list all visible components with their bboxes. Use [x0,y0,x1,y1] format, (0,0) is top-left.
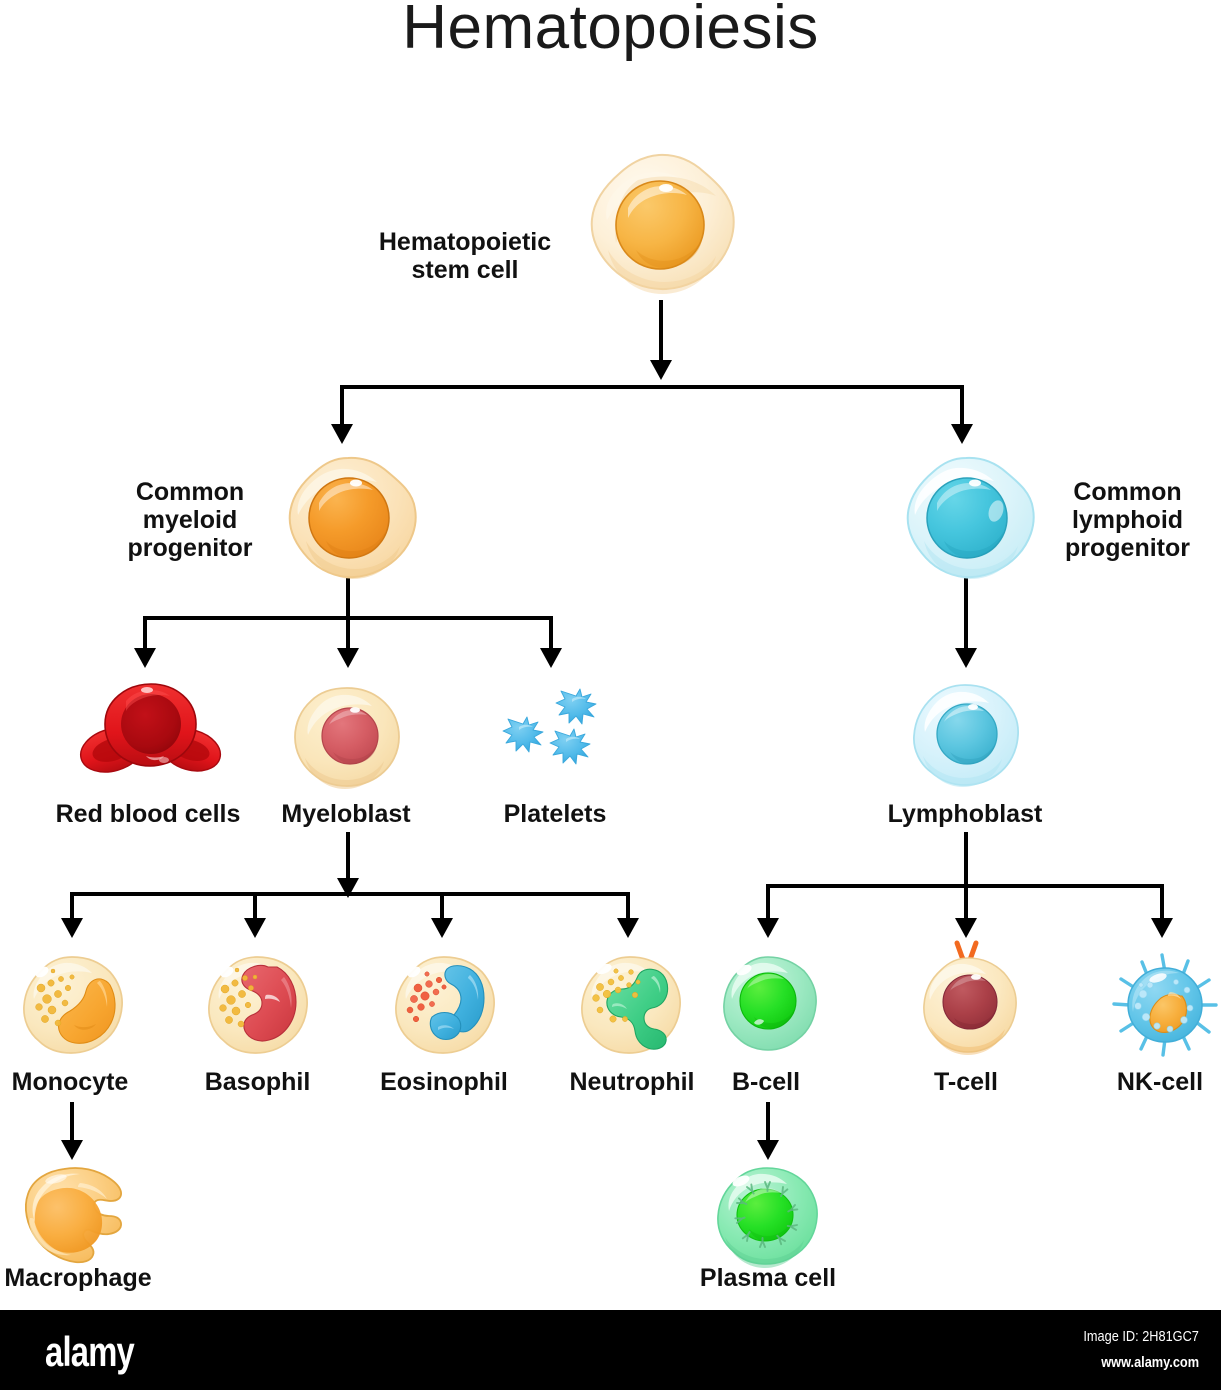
alamy-footer: alamy Image ID: 2H81GC7 www.alamy.com [0,1310,1221,1390]
label-macrophage: Macrophage [0,1264,168,1292]
cell-nk-cell [1112,952,1218,1058]
cell-red-blood-cells [78,678,224,796]
connector-to-neutrophil [626,892,630,920]
connector-to-monocyte [70,892,74,920]
connector-to-eosinophil [440,892,444,920]
arrowhead-tcell [955,918,977,938]
connector-clp-stem [964,578,968,650]
connector-to-nkcell [1160,884,1164,920]
cell-macrophage [20,1165,130,1269]
connector-myeloblast-stem [346,832,350,882]
cell-b-cell [718,955,818,1055]
connector-to-basophil [253,892,257,920]
label-lymphoblast: Lymphoblast [875,800,1055,828]
page-title: Hematopoiesis [0,0,1221,63]
connector-hsc-bar [340,385,964,389]
arrowhead-clp [951,424,973,444]
arrowhead-cmp [331,424,353,444]
arrowhead-lymphoblast [955,648,977,668]
arrowhead-monocyte [61,918,83,938]
connector-to-bcell [766,884,770,920]
connector-to-cmp [340,385,344,427]
connector-to-myeloblast [346,616,350,650]
arrowhead-hsc-down [650,360,672,380]
label-monocyte: Monocyte [0,1068,150,1096]
cell-lymphoblast [910,682,1020,790]
cell-t-cell [918,940,1018,1056]
connector-lymphoblast-bar [766,884,1164,888]
cell-platelets [500,686,608,786]
label-platelets: Platelets [465,800,645,828]
arrowhead-myeloblast [337,648,359,668]
label-eosinophil: Eosinophil [360,1068,528,1096]
label-common-lymphoid-progenitor: Common lymphoid progenitor [1035,478,1220,562]
cell-monocyte [20,955,124,1055]
label-plasma-cell: Plasma cell [678,1264,858,1292]
alamy-url-text: www.alamy.com [1101,1354,1199,1371]
connector-monocyte-macrophage [70,1102,74,1144]
hematopoiesis-diagram: Hematopoiesis [0,0,1221,1390]
arrowhead-bcell [757,918,779,938]
label-nk-cell: NK-cell [1090,1068,1221,1096]
arrowhead-rbc [134,648,156,668]
cell-basophil [205,955,309,1055]
connector-cmp-stem [346,578,350,618]
connector-bcell-plasmacell [766,1102,770,1144]
arrowhead-nkcell [1151,918,1173,938]
label-t-cell: T-cell [900,1068,1032,1096]
arrowhead-eosinophil [431,918,453,938]
arrowhead-platelets [540,648,562,668]
cell-plasma-cell [713,1165,821,1269]
label-basophil: Basophil [180,1068,335,1096]
arrowhead-plasmacell [757,1140,779,1160]
connector-lymphoblast-stem [964,832,968,920]
label-red-blood-cells: Red blood cells [43,800,253,828]
cell-neutrophil [578,955,682,1055]
image-id-text: Image ID: 2H81GC7 [1083,1328,1199,1345]
cell-common-myeloid-progenitor [278,455,418,583]
arrowhead-basophil [244,918,266,938]
arrowhead-neutrophil [617,918,639,938]
cell-eosinophil [392,955,496,1055]
connector-to-clp [960,385,964,427]
label-hematopoietic-stem-cell: Hematopoietic stem cell [345,228,585,284]
cell-hematopoietic-stem-cell [578,152,742,304]
connector-myeloblast-bar [70,892,630,896]
connector-to-rbc [143,616,147,650]
connector-hsc-stem [659,300,663,362]
label-common-myeloid-progenitor: Common myeloid progenitor [100,478,280,562]
label-neutrophil: Neutrophil [548,1068,716,1096]
cell-myeloblast [293,686,401,790]
label-myeloblast: Myeloblast [256,800,436,828]
label-b-cell: B-cell [700,1068,832,1096]
arrowhead-macrophage [61,1140,83,1160]
alamy-logo: alamy [45,1328,134,1376]
cell-common-lymphoid-progenitor [896,455,1036,583]
connector-to-platelets [549,616,553,650]
